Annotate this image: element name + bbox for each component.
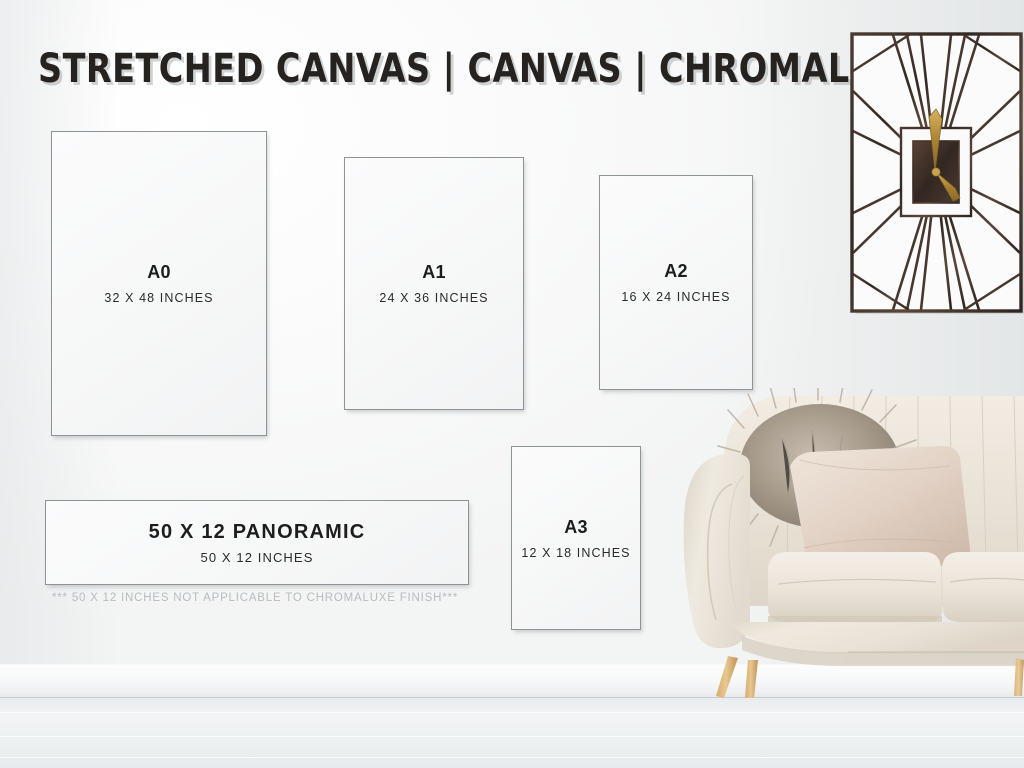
sofa xyxy=(672,388,1024,698)
chromaluxe-disclaimer-note: *** 50 X 12 INCHES NOT APPLICABLE TO CHR… xyxy=(52,592,458,604)
frame-a1-content: A1 24 X 36 INCHES xyxy=(345,158,523,409)
floor-plank-seam xyxy=(0,712,1024,713)
page-title: STRETCHED CANVAS | CANVAS | CHROMALUXE xyxy=(38,46,926,92)
frame-panoramic-dimensions: 50 X 12 INCHES xyxy=(201,550,314,565)
frame-panoramic-content: 50 X 12 PANORAMIC 50 X 12 INCHES xyxy=(46,501,468,584)
size-frame-a3[interactable]: A3 12 X 18 INCHES xyxy=(511,446,641,630)
floor-plank-seam xyxy=(0,757,1024,758)
frame-a0-content: A0 32 X 48 INCHES xyxy=(52,132,266,435)
size-frame-panoramic[interactable]: 50 X 12 PANORAMIC 50 X 12 INCHES xyxy=(45,500,469,585)
frame-a3-content: A3 12 X 18 INCHES xyxy=(512,447,640,629)
frame-a3-dimensions: 12 X 18 INCHES xyxy=(521,546,630,560)
frame-a1-label: A1 xyxy=(422,262,446,283)
floor-plank-seam xyxy=(0,736,1024,737)
frame-panoramic-label: 50 X 12 PANORAMIC xyxy=(149,521,366,544)
frame-a2-dimensions: 16 X 24 INCHES xyxy=(621,290,730,304)
frame-a2-label: A2 xyxy=(664,261,688,282)
room-scene: STRETCHED CANVAS | CANVAS | CHROMALUXE A… xyxy=(0,0,1024,768)
frame-a0-label: A0 xyxy=(147,262,171,283)
size-frame-a0[interactable]: A0 32 X 48 INCHES xyxy=(51,131,267,436)
frame-a3-label: A3 xyxy=(564,517,588,538)
wall-clock xyxy=(849,31,1024,314)
frame-a1-dimensions: 24 X 36 INCHES xyxy=(379,291,488,305)
size-frame-a2[interactable]: A2 16 X 24 INCHES xyxy=(599,175,753,390)
frame-a0-dimensions: 32 X 48 INCHES xyxy=(104,291,213,305)
size-frame-a1[interactable]: A1 24 X 36 INCHES xyxy=(344,157,524,410)
frame-a2-content: A2 16 X 24 INCHES xyxy=(600,176,752,389)
